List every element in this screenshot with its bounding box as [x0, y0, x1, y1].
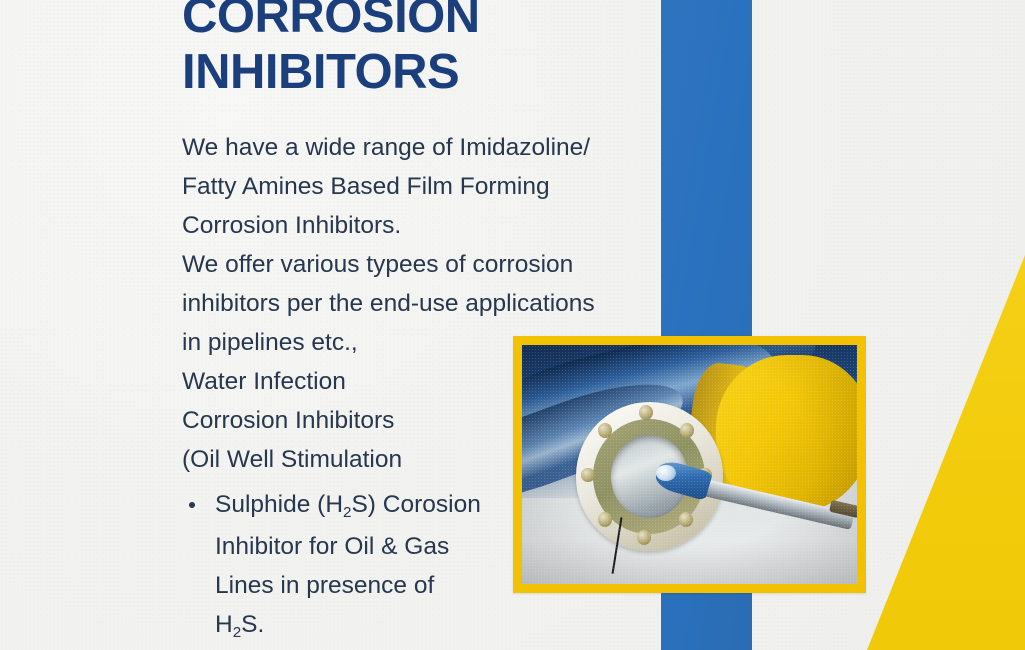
bullet-list: Sulphide (H2S) Corosion Inhibitor for Oi…: [182, 485, 482, 650]
subscript-two: 2: [343, 504, 351, 521]
paragraph-offer-line-2: inhibitors per the end-use applications: [182, 284, 634, 323]
bullet-1-line-4-suffix: S.: [241, 611, 264, 638]
bullet-1-line-4: H2S.: [215, 605, 482, 647]
bullet-1-line-2: Inhibitor for Oil & Gas: [215, 527, 482, 566]
bullet-1-line-1: Sulphide (H2S) Corosion: [215, 485, 482, 527]
subscript-two: 2: [233, 624, 241, 641]
page-title-line-1: CORROSION: [182, 0, 652, 44]
page-title: CORROSION INHIBITORS: [182, 0, 652, 100]
pipeline-photo: [522, 345, 857, 584]
paragraph-intro-line-1: We have a wide range of Imidazoline/: [182, 128, 634, 167]
list-item: Sulphide (H2S) Corosion Inhibitor for Oi…: [182, 485, 482, 647]
paragraph-intro: We have a wide range of Imidazoline/ Fat…: [182, 128, 634, 245]
paragraph-offer-line-1: We offer various typees of corrosion: [182, 245, 634, 284]
photo-frame: [513, 336, 866, 593]
paragraph-intro-line-2: Fatty Amines Based Film Forming: [182, 167, 634, 206]
slide-canvas: CORROSION INHIBITORS We have a wide rang…: [0, 0, 1025, 650]
photo-grain: [522, 345, 857, 584]
bullet-1-line-4-prefix: H: [215, 611, 233, 638]
page-title-line-2: INHIBITORS: [182, 44, 652, 100]
paragraph-intro-line-3: Corrosion Inhibitors.: [182, 206, 634, 245]
bullet-1-line-1-suffix: S) Corosion: [351, 491, 480, 518]
bullet-1-line-1-prefix: Sulphide (H: [215, 491, 343, 518]
bullet-1-line-3: Lines in presence of: [215, 566, 482, 605]
